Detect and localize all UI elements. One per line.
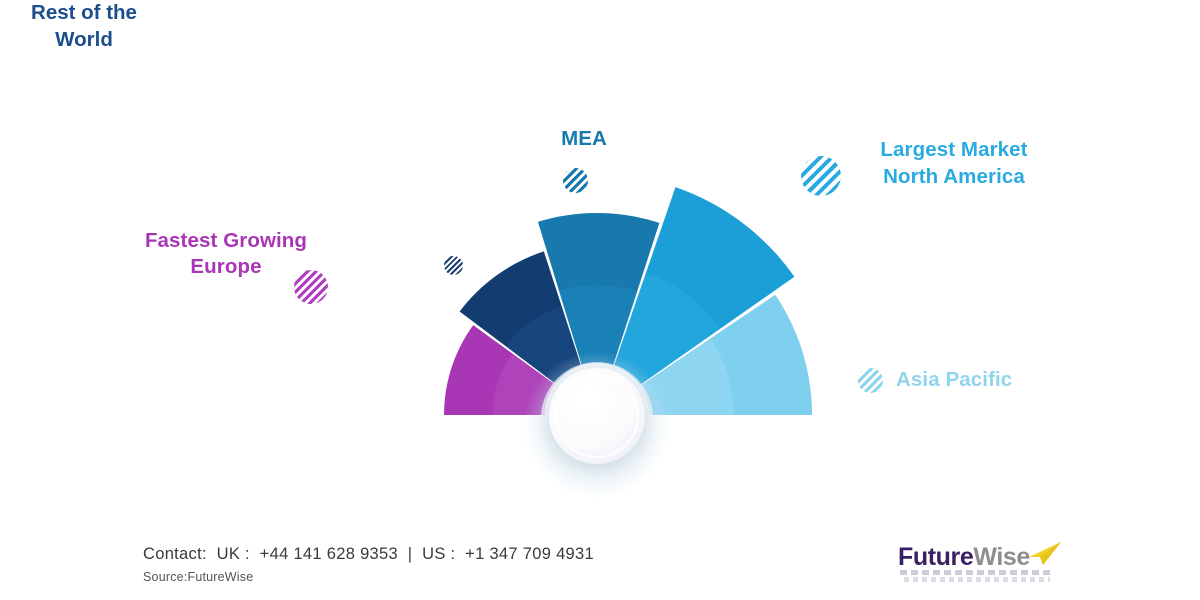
- striped-circle-icon-north-america: [801, 156, 841, 196]
- logo-tagline: [900, 570, 1050, 583]
- regional-market-infographic: Fastest Growing Europe Rest of the World…: [0, 0, 1200, 600]
- striped-circle-icon-asia-pacific: [858, 368, 883, 393]
- striped-circle-icon-rest-of-world: [444, 256, 463, 275]
- logo-wordmark: FutureWise: [898, 543, 1030, 572]
- futurewise-logo: FutureWise: [898, 543, 1068, 587]
- footer-source: Source:FutureWise: [143, 570, 253, 584]
- label-mea: MEA: [520, 126, 648, 152]
- logo-name-secondary: Wise: [973, 543, 1030, 571]
- arrow-icon: [1028, 541, 1062, 567]
- label-north-america: Largest Market North America: [852, 136, 1056, 190]
- striped-circle-icon-mea: [563, 168, 588, 193]
- striped-circle-icon-europe: [294, 270, 328, 304]
- footer-contact: Contact: UK : +44 141 628 9353 | US : +1…: [143, 545, 594, 564]
- logo-name-primary: Future: [898, 543, 973, 571]
- rose-chart: [0, 0, 1200, 600]
- chart-center-hub: [523, 351, 671, 499]
- label-asia-pacific: Asia Pacific: [896, 367, 1012, 393]
